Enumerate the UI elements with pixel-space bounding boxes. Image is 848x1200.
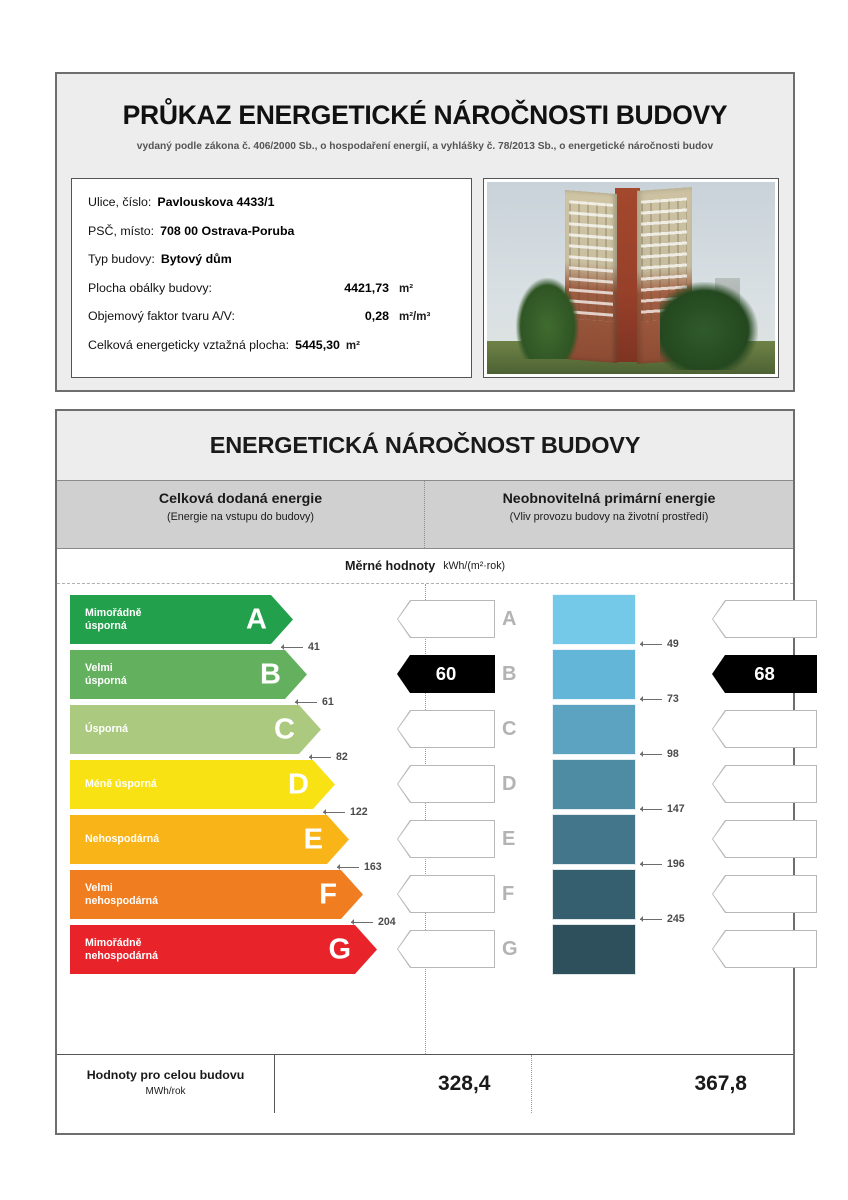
info-label-shape-factor: Objemový faktor tvaru A/V:: [88, 309, 235, 323]
info-row-envelope-area: Plocha obálky budovy: 4421,73 m²: [88, 281, 471, 295]
class-label-f: Velmi nehospodárná: [85, 882, 158, 907]
performance-column-headers: Celková dodaná energie (Energie na vstup…: [57, 481, 793, 549]
primary-energy-block-f: [552, 869, 636, 920]
info-label-building-type: Typ budovy:: [88, 252, 155, 266]
column-subtitle-delivered-energy: (Energie na vstupu do budovy): [57, 511, 424, 523]
info-row-shape-factor: Objemový faktor tvaru A/V: 0,28 m²/m³: [88, 309, 471, 323]
building-photo-image: [487, 182, 775, 374]
primary-energy-block-c: [552, 704, 636, 755]
photo-tower-middle: [615, 188, 639, 363]
info-value-envelope-area: 4421,73: [344, 281, 393, 295]
primary-energy-block-e: [552, 814, 636, 865]
photo-tree-left: [516, 278, 579, 359]
identification-content: Ulice, číslo: Pavlouskova 4433/1 PSČ, mí…: [71, 178, 779, 378]
class-arrow-g: Mimořádně nehospodárnáG: [70, 925, 377, 974]
threshold-tick-icon: [640, 864, 662, 865]
class-arrow-a: Mimořádně úspornáA: [70, 595, 293, 644]
measured-values-label: Měrné hodnoty: [345, 559, 435, 573]
class-label-c: Úsporná: [85, 723, 128, 736]
measured-values-band: Měrné hodnoty kWh/(m²·rok): [57, 549, 793, 584]
result-marker-left-a: [397, 600, 495, 638]
info-row-street: Ulice, číslo: Pavlouskova 4433/1: [88, 195, 471, 209]
energy-class-row-e: NehospodárnáE163E196: [57, 812, 793, 867]
primary-energy-block-g: [552, 924, 636, 975]
result-marker-right-g: [712, 930, 817, 968]
class-label-b: Velmi úsporná: [85, 662, 127, 687]
class-letter-f: F: [319, 880, 337, 909]
energy-class-row-f: Velmi nehospodárnáF204F245: [57, 867, 793, 922]
result-marker-left-c: [397, 710, 495, 748]
class-label-d: Méně úsporná: [85, 778, 157, 791]
primary-energy-block-b: [552, 649, 636, 700]
building-info-box: Ulice, číslo: Pavlouskova 4433/1 PSČ, mí…: [71, 178, 472, 378]
class-label-a: Mimořádně úsporná: [85, 607, 142, 632]
threshold-tick-icon: [640, 644, 662, 645]
info-value-street: Pavlouskova 4433/1: [157, 195, 274, 209]
column-subtitle-primary-energy: (Vliv provozu budovy na životní prostřed…: [425, 511, 793, 523]
info-unit-reference-area: m²: [346, 340, 360, 352]
info-label-envelope-area: Plocha obálky budovy:: [88, 281, 212, 295]
document-subtitle: vydaný podle zákona č. 406/2000 Sb., o h…: [57, 141, 793, 152]
class-arrow-b: Velmi úspornáB: [70, 650, 307, 699]
energy-class-row-g: Mimořádně nehospodárnáGG: [57, 922, 793, 977]
class-letter-d: D: [288, 770, 309, 799]
class-label-g: Mimořádně nehospodárná: [85, 937, 158, 962]
totals-label-cell: Hodnoty pro celou budovu MWh/rok: [57, 1055, 275, 1113]
marker-letter-left-b: B: [502, 655, 516, 693]
threshold-tick-icon: [640, 699, 662, 700]
info-value-postcode: 708 00 Ostrava-Poruba: [160, 224, 294, 238]
result-value-right: 68: [754, 663, 775, 685]
info-label-street: Ulice, číslo:: [88, 195, 151, 209]
marker-letter-left-c: C: [502, 710, 516, 748]
photo-tree-right: [660, 282, 758, 370]
marker-letter-left-g: G: [502, 930, 518, 968]
class-arrow-d: Méně úspornáD: [70, 760, 335, 809]
info-unit-shape-factor: m²/m³: [399, 311, 443, 323]
energy-class-rows: Mimořádně úspornáA41A49Velmi úspornáB616…: [57, 584, 793, 1054]
info-label-reference-area: Celková energeticky vztažná plocha:: [88, 338, 289, 352]
result-marker-left-e: [397, 820, 495, 858]
result-marker-right-d: [712, 765, 817, 803]
result-value-left: 60: [436, 663, 457, 685]
result-marker-left-f: [397, 875, 495, 913]
document-title: PRŮKAZ ENERGETICKÉ NÁROČNOSTI BUDOVY: [57, 100, 793, 131]
marker-letter-left-e: E: [502, 820, 515, 858]
column-title-primary-energy: Neobnovitelná primární energie: [425, 491, 793, 507]
result-marker-left-g: [397, 930, 495, 968]
info-row-postcode: PSČ, místo: 708 00 Ostrava-Poruba: [88, 224, 471, 238]
class-letter-g: G: [328, 935, 351, 964]
energy-class-row-a: Mimořádně úspornáA41A49: [57, 592, 793, 647]
info-value-building-type: Bytový dům: [161, 252, 232, 266]
threshold-tick-icon: [640, 754, 662, 755]
class-arrow-c: ÚspornáC: [70, 705, 321, 754]
column-title-delivered-energy: Celková dodaná energie: [57, 491, 424, 507]
totals-value-primary: 367,8: [532, 1055, 794, 1113]
result-marker-left-d: [397, 765, 495, 803]
measured-values-unit: kWh/(m²·rok): [443, 560, 505, 572]
info-value-shape-factor: 0,28: [365, 309, 393, 323]
class-letter-c: C: [274, 715, 295, 744]
result-marker-right-c: [712, 710, 817, 748]
class-arrow-f: Velmi nehospodárnáF: [70, 870, 363, 919]
primary-energy-block-a: [552, 594, 636, 645]
class-letter-e: E: [304, 825, 323, 854]
energy-scale-area: Mimořádně úspornáA41A49Velmi úspornáB616…: [57, 584, 793, 1054]
result-marker-right-b: 68: [712, 655, 817, 693]
building-photo: [483, 178, 779, 378]
energy-performance-panel: ENERGETICKÁ NÁROČNOST BUDOVY Celková dod…: [55, 409, 795, 1135]
marker-letter-left-f: F: [502, 875, 514, 913]
threshold-tick-icon: [640, 919, 662, 920]
result-marker-right-e: [712, 820, 817, 858]
info-label-postcode: PSČ, místo:: [88, 224, 154, 238]
class-letter-b: B: [260, 660, 281, 689]
threshold-tick-icon: [640, 809, 662, 810]
info-row-building-type: Typ budovy: Bytový dům: [88, 252, 471, 266]
identification-panel: PRŮKAZ ENERGETICKÉ NÁROČNOSTI BUDOVY vyd…: [55, 72, 795, 392]
result-marker-left-b: 60: [397, 655, 495, 693]
result-marker-right-a: [712, 600, 817, 638]
totals-value-delivered: 328,4: [275, 1055, 532, 1113]
info-value-reference-area: 5445,30: [295, 338, 340, 352]
performance-title-band: ENERGETICKÁ NÁROČNOST BUDOVY: [57, 411, 793, 481]
whole-building-totals: Hodnoty pro celou budovu MWh/rok 328,4 3…: [57, 1054, 793, 1113]
energy-class-row-b: Velmi úspornáB6160B7368: [57, 647, 793, 702]
info-unit-envelope-area: m²: [399, 283, 443, 295]
marker-letter-left-d: D: [502, 765, 516, 803]
column-header-delivered-energy: Celková dodaná energie (Energie na vstup…: [57, 481, 425, 548]
energy-class-row-c: ÚspornáC82C98: [57, 702, 793, 757]
class-letter-a: A: [246, 605, 267, 634]
totals-label: Hodnoty pro celou budovu: [87, 1068, 245, 1082]
energy-class-row-d: Méně úspornáD122D147: [57, 757, 793, 812]
totals-unit: MWh/rok: [57, 1086, 274, 1097]
result-marker-right-f: [712, 875, 817, 913]
class-arrow-e: NehospodárnáE: [70, 815, 349, 864]
info-row-reference-area: Celková energeticky vztažná plocha: 5445…: [88, 338, 471, 352]
column-header-primary-energy: Neobnovitelná primární energie (Vliv pro…: [425, 481, 793, 548]
marker-letter-left-a: A: [502, 600, 516, 638]
primary-energy-block-d: [552, 759, 636, 810]
performance-heading: ENERGETICKÁ NÁROČNOST BUDOVY: [210, 432, 640, 459]
class-label-e: Nehospodárná: [85, 833, 159, 846]
